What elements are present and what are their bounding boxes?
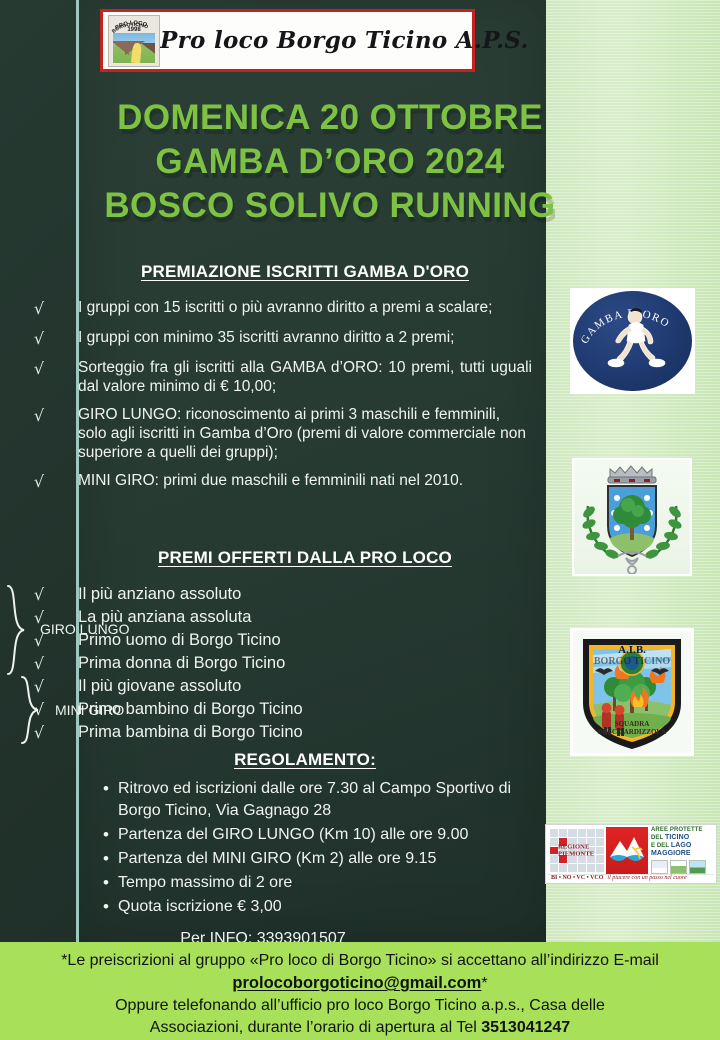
regolamento-item: • Quota iscrizione € 3,00 [0,896,546,918]
aree-protette-mark-icon [606,827,648,874]
brace-label-mini-giro: MINI GIRO [55,702,124,718]
pro-loco-logo-bar: PRO LOCO BORGOTICINO 1998 Pro loco Borgo… [100,9,475,72]
footer-email[interactable]: prolocoborgoticino@gmail.com [232,974,481,992]
footer-email-line: prolocoborgoticino@gmail.com* [0,972,720,995]
lago-icon [689,860,706,874]
regione-piemonte-logo: REGIONE PIEMONTE [548,827,606,874]
premiazione-item: √ MINI GIRO: primi due maschili e femmin… [0,471,546,492]
regolamento-item-text: Ritrovo ed iscrizioni dalle ore 7.30 al … [118,778,546,822]
bullet-icon: • [0,896,118,918]
check-marker-icon: √ [0,298,78,319]
footer-line-4-pre: Associazioni, durante l’orario di apertu… [150,1019,481,1036]
brace-label-giro-lungo: GIRO LUNGO [40,621,129,637]
gamba-doro-badge: GAMBA D’ORO [570,288,695,394]
title-line-3: BOSCO SOLIVO RUNNING [0,184,660,228]
poster-canvas: PRO LOCO BORGOTICINO 1998 Pro loco Borgo… [0,0,720,1040]
premiazione-item: √ GIRO LUNGO: riconoscimento ai primi 3 … [0,405,546,462]
section-premiazione: PREMIAZIONE ISCRITTI GAMBA D'ORO √ I gru… [0,262,546,501]
svg-text:GAMBA D’ORO: GAMBA D’ORO [579,308,672,346]
footer-line-3: Oppure telefonando all’ufficio pro loco … [0,995,720,1017]
premiazione-item-text: Sorteggio fra gli iscritti alla GAMBA d’… [78,358,546,396]
poster-title: DOMENICA 20 OTTOBRE GAMBA D’ORO 2024 BOS… [0,96,660,228]
regolamento-item-text: Partenza del MINI GIRO (Km 2) alle ore 9… [118,848,546,870]
premiazione-item-text: I gruppi con minimo 35 iscritti avranno … [78,328,546,347]
sponsor-provinces: BI • NO • VC • VCO [551,875,603,881]
svg-text:BORGO TICINO: BORGO TICINO [594,656,670,667]
regolamento-item-text: Partenza del GIRO LUNGO (Km 10) alle ore… [118,824,546,846]
footer-line-4: Associazioni, durante l’orario di apertu… [0,1017,720,1039]
check-marker-icon: √ [0,471,78,492]
footer-telephone: 3513041247 [481,1019,570,1036]
emblem-year: 1998 [109,27,159,33]
svg-text:SQUADRA: SQUADRA [615,720,650,728]
premiazione-item-text: MINI GIRO: primi due maschili e femminil… [78,471,546,490]
regolamento-item: • Partenza del MINI GIRO (Km 2) alle ore… [0,848,546,870]
sponsor-bar: REGIONE PIEMONTE AREE PROTETTE DEL TICIN… [545,824,717,884]
check-marker-icon: √ [0,358,78,379]
sponsor-partner-icons [651,860,714,874]
aree-ticino: TICINO [665,834,689,841]
aree-line-2: E DEL LAGO MAGGIORE [651,842,714,858]
sponsor-bottom-row: BI • NO • VC • VCO il piacere con un pas… [548,874,714,881]
premiazione-heading: PREMIAZIONE ISCRITTI GAMBA D'ORO [0,262,546,282]
title-line-1: DOMENICA 20 OTTOBRE [0,96,660,140]
pro-loco-emblem-icon: PRO LOCO BORGOTICINO 1998 [108,15,160,67]
svg-text:A.I.B.: A.I.B. [618,644,646,656]
emblem-path [131,42,142,62]
regolamento-item-text: Tempo massimo di 2 ore [118,872,546,894]
premi-item-text: Prima donna di Borgo Ticino [78,652,340,675]
sponsor-slogan: il piacere con un passo nel cuore [607,875,686,881]
premi-item: √ Prima donna di Borgo Ticino [0,652,546,675]
premi-heading: PREMI OFFERTI DALLA PRO LOCO [0,548,546,568]
regolamento-item: • Partenza del GIRO LUNGO (Km 10) alle o… [0,824,546,846]
footer-email-suffix: * [481,975,487,992]
premiazione-item: √ I gruppi con 15 iscritti o più avranno… [0,298,546,319]
premi-item-text: Prima bambina di Borgo Ticino [78,721,340,744]
regolamento-heading: REGOLAMENTO: [0,750,546,770]
gamba-doro-graphic: GAMBA D’ORO [573,291,692,391]
footer-line-1: *Le preiscrizioni al gruppo «Pro loco di… [0,950,720,972]
coat-of-arms-badge [572,458,692,576]
premiazione-item-text: GIRO LUNGO: riconoscimento ai primi 3 ma… [78,405,546,462]
emblem-landscape [113,33,155,63]
gamba-doro-oval: GAMBA D’ORO [573,291,692,391]
bullet-icon: • [0,848,118,870]
pro-loco-logo-text: Pro loco Borgo Ticino A.P.S. [160,27,537,54]
aib-badge: A.I.B. BORGO TICINO SQUADRA BOSCO ARDIZZ… [570,628,694,756]
brace-giro-lungo-icon [6,584,28,676]
premiazione-item-text: I gruppi con 15 iscritti o più avranno d… [78,298,546,317]
parco-icon [670,860,687,874]
title-line-2: GAMBA D’ORO 2024 [0,140,660,184]
aib-shield-graphic: A.I.B. BORGO TICINO SQUADRA BOSCO ARDIZZ… [573,631,691,753]
svg-text:BOSCO ARDIZZOLA: BOSCO ARDIZZOLA [598,728,666,736]
premi-item-text: Il più anziano assoluto [78,583,340,606]
premi-item-text: Il più giovane assoluto [78,675,340,698]
bullet-icon: • [0,872,118,894]
aree-protette-text-block: AREE PROTETTE DEL TICINO E DEL LAGO MAGG… [648,827,714,874]
crown-icon [608,466,656,483]
coat-of-arms-graphic [574,460,690,574]
premiazione-item: √ Sorteggio fra gli iscritti alla GAMBA … [0,358,546,396]
premi-item: √ Prima bambina di Borgo Ticino [0,721,546,744]
regolamento-item-text: Quota iscrizione € 3,00 [118,896,546,918]
premiazione-item: √ I gruppi con minimo 35 iscritti avrann… [0,328,546,349]
regione-piemonte-label: REGIONE PIEMONTE [558,843,606,858]
unesco-icon [651,860,668,874]
premi-item: √ Il più giovane assoluto [0,675,546,698]
brace-mini-giro-icon [20,675,42,745]
bullet-icon: • [0,824,118,846]
check-marker-icon: √ [0,405,78,426]
sponsor-top-row: REGIONE PIEMONTE AREE PROTETTE DEL TICIN… [548,827,714,874]
premi-item: √ Il più anziano assoluto [0,583,546,606]
footer-banner: *Le preiscrizioni al gruppo «Pro loco di… [0,942,720,1040]
regolamento-list: • Ritrovo ed iscrizioni dalle ore 7.30 a… [0,778,546,918]
section-regolamento: REGOLAMENTO: • Ritrovo ed iscrizioni dal… [0,750,546,948]
bullet-icon: • [0,778,118,800]
section-premi-offerti: PREMI OFFERTI DALLA PRO LOCO GIRO LUNGO … [0,548,546,744]
aree-line-1: AREE PROTETTE DEL TICINO [651,827,714,842]
regolamento-item: • Ritrovo ed iscrizioni dalle ore 7.30 a… [0,778,546,822]
check-marker-icon: √ [0,328,78,349]
regolamento-item: • Tempo massimo di 2 ore [0,872,546,894]
